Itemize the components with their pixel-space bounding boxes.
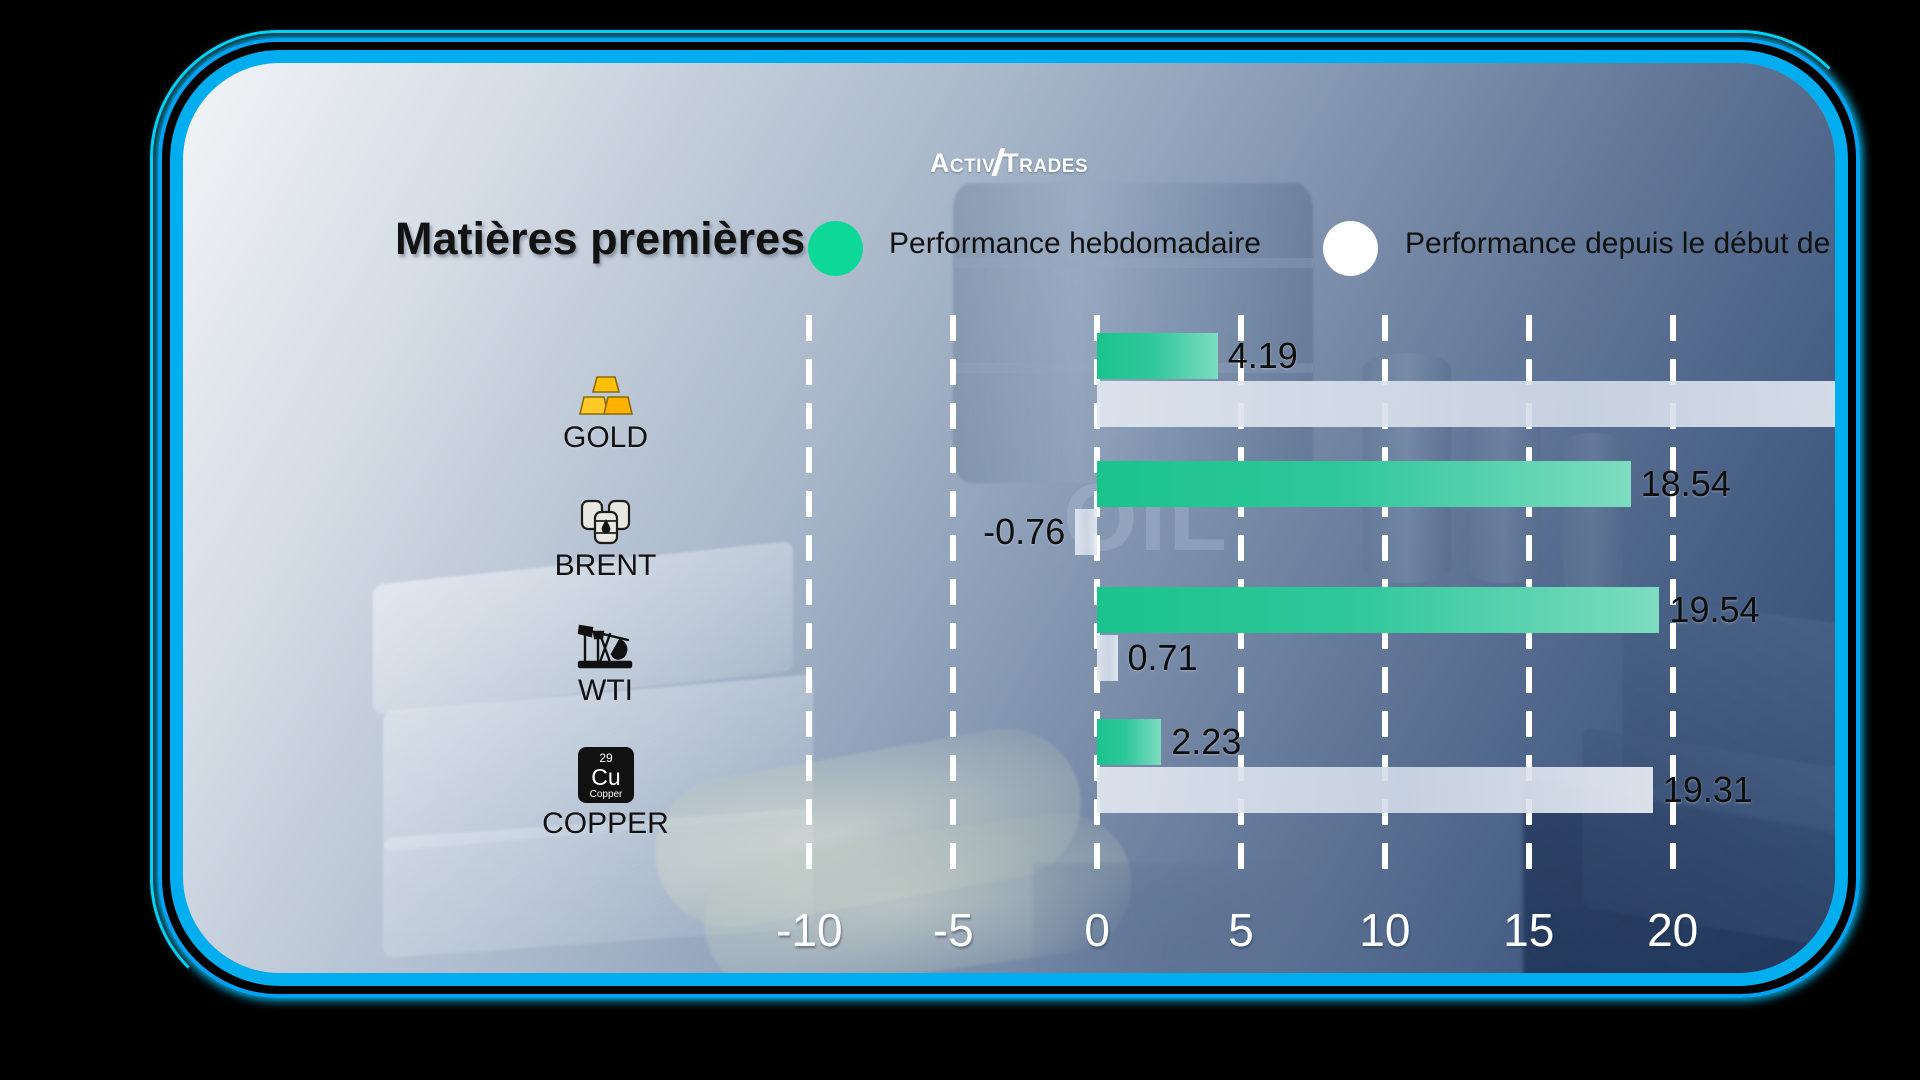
bar-wti-hebdomadaire [1097,587,1659,633]
poster-canvas: OIL ActivTrades Matières premières Perfo… [183,63,1835,973]
logo-text-trades: Trades [1002,148,1088,178]
category-wti: WTI [513,616,698,708]
x-axis-title: % Performance en pourcentage [183,968,1835,986]
bar-copper-hebdomadaire [1097,719,1161,765]
plot-area: 4.1930.5918.54-0.7619.540.712.2319.31 -1… [723,315,1759,885]
activtrades-logo: ActivTrades [183,148,1835,179]
x-tick-label: 0 [1084,903,1110,957]
gridline--5 [950,315,956,885]
legend-swatch-weekly [808,221,863,276]
oil-barrels-icon [513,491,698,545]
x-tick-label: 15 [1503,903,1554,957]
svg-text:Cu: Cu [591,764,620,790]
bar-wti-depuis [1097,635,1117,681]
bar-value-label: 19.54 [1669,589,1759,631]
category-label: BRENT [513,549,698,583]
bar-value-label: -0.76 [983,511,1065,553]
x-tick-label: 5 [1228,903,1254,957]
category-copper: 29 Cu Copper COPPER [513,749,698,841]
legend-label-weekly: Performance hebdomadaire [889,227,1261,261]
x-tick-label: 10 [1359,903,1410,957]
category-gold: GOLD [513,363,698,455]
bar-value-label: 2.23 [1171,721,1241,763]
bar-brent-hebdomadaire [1097,461,1631,507]
bar-value-label: 18.54 [1641,463,1731,505]
bar-gold-depuis [1097,381,1848,427]
poster-frame: OIL ActivTrades Matières premières Perfo… [170,50,1848,986]
bar-value-label: 4.19 [1228,335,1298,377]
x-tick-label: 20 [1647,903,1698,957]
svg-text:29: 29 [599,751,613,765]
logo-text-activ: Activ [930,148,995,178]
page-title: Matières premières [395,213,805,265]
category-brent: BRENT [513,491,698,583]
category-label: GOLD [513,421,698,455]
gold-bars-icon [513,363,698,417]
bar-value-label: 19.31 [1663,769,1753,811]
bar-copper-depuis [1097,767,1653,813]
chart-header: Matières premières Performance hebdomada… [183,213,1835,283]
gridline--10 [806,315,812,885]
x-tick-label: -5 [933,903,974,957]
oil-pumpjack-icon [513,616,698,670]
x-tick-label: -10 [776,903,842,957]
bar-value-label: 0.71 [1128,637,1198,679]
bar-gold-hebdomadaire [1097,333,1218,379]
category-label: WTI [513,674,698,708]
legend-label-ytd: Performance depuis le début de l’année [1405,227,1848,261]
bar-brent-depuis [1075,509,1097,555]
svg-text:Copper: Copper [589,789,622,800]
copper-element-icon: 29 Cu Copper [513,749,698,803]
legend-swatch-ytd [1323,221,1378,276]
category-label: COPPER [513,807,698,841]
